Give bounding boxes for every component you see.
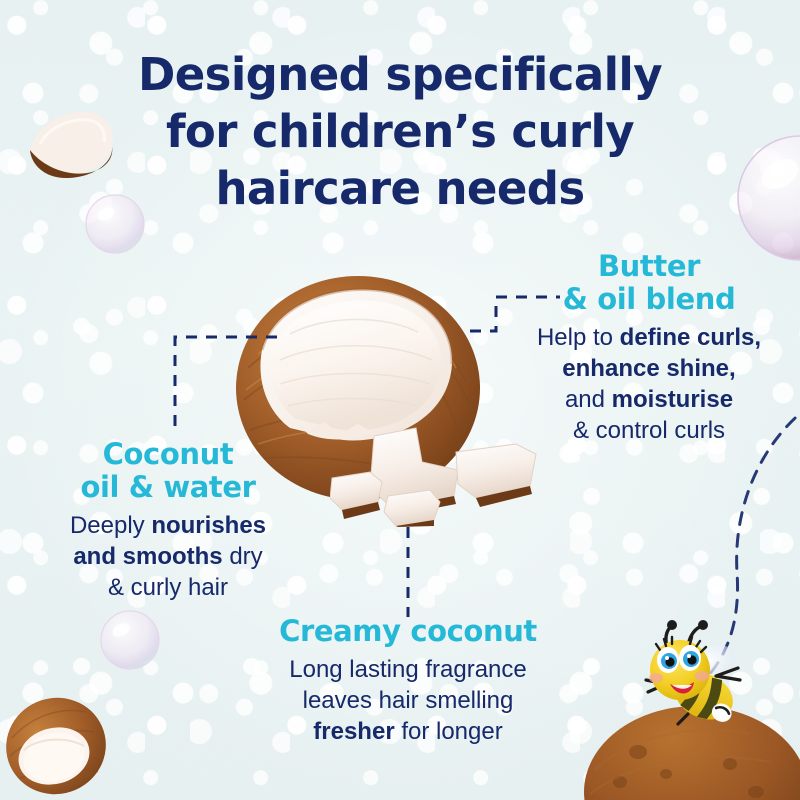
callout-body: Deeply nourishes and smooths dry & curly… (38, 510, 298, 603)
callout-title-line-2: oil & water (80, 470, 255, 504)
cartoon-bee-mascot (632, 618, 762, 738)
soap-bubble-icon (99, 609, 161, 671)
callout-title: Creamy coconut (243, 615, 573, 648)
callout-title-line-1: Coconut (103, 437, 234, 471)
callout-title: Coconut oil & water (38, 438, 298, 504)
callout-body-text: Help to define curls, enhance shine, and… (537, 324, 761, 444)
callout-body-text: Long lasting fragrance leaves hair smell… (289, 656, 527, 745)
headline-line-1: Designed specifically (0, 46, 800, 103)
callout-coconut-oil-water: Coconut oil & water Deeply nourishes and… (38, 438, 298, 603)
callout-title-line-1: Creamy coconut (279, 614, 537, 648)
headline-line-2: for children’s curly (0, 103, 800, 160)
callout-title-line-1: Butter (598, 249, 700, 283)
callout-butter-oil-blend: Butter & oil blend Help to define curls,… (506, 250, 792, 446)
callout-body-text: Deeply nourishes and smooths dry & curly… (70, 512, 266, 601)
callout-title-line-2: & oil blend (563, 282, 736, 316)
page-title: Designed specifically for children’s cur… (0, 46, 800, 217)
callout-body: Help to define curls, enhance shine, and… (506, 322, 792, 446)
headline-line-3: haircare needs (0, 160, 800, 217)
callout-creamy-coconut: Creamy coconut Long lasting fragrance le… (243, 615, 573, 747)
callout-body: Long lasting fragrance leaves hair smell… (243, 654, 573, 747)
infographic-canvas: Designed specifically for children’s cur… (0, 0, 800, 800)
callout-title: Butter & oil blend (506, 250, 792, 316)
small-coconut-half-icon (0, 688, 112, 800)
